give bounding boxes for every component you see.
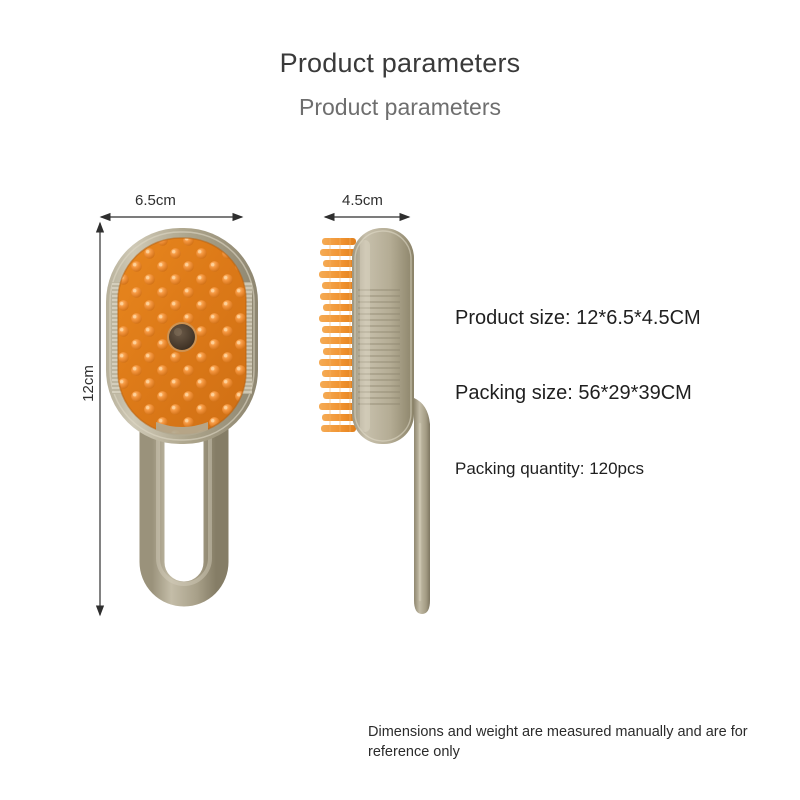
page-title: Product parameters (0, 48, 800, 79)
front-handle-loop (152, 418, 216, 594)
front-comb-teeth-left (112, 282, 128, 394)
front-view-group (106, 228, 258, 594)
dimension-arrows (97, 214, 409, 615)
product-parameters-canvas: Product parameters Product parameters (0, 0, 800, 800)
page-subtitle: Product parameters (0, 94, 800, 121)
front-center-hole (167, 322, 197, 352)
dimension-label-side-width: 4.5cm (342, 192, 383, 209)
dimension-label-front-width: 6.5cm (135, 192, 176, 209)
front-comb-teeth-right (236, 282, 252, 394)
spec-product-size: Product size: 12*6.5*4.5CM (455, 307, 701, 330)
width-arrow-front (101, 214, 242, 221)
side-bristles (319, 238, 356, 432)
front-silicone-pad (118, 238, 246, 434)
front-body-shell (106, 228, 258, 444)
height-arrow-front (97, 223, 104, 615)
side-comb-ridges (358, 290, 400, 404)
spec-packing-size: Packing size: 56*29*39CM (455, 382, 692, 405)
measurement-disclaimer: Dimensions and weight are measured manua… (368, 723, 788, 762)
dimension-label-front-height: 12cm (80, 365, 97, 402)
side-body-shell (352, 228, 414, 444)
width-arrow-side (325, 214, 409, 221)
side-handle-stem (414, 398, 430, 614)
side-view-group (319, 228, 430, 614)
spec-packing-quantity: Packing quantity: 120pcs (455, 459, 644, 479)
